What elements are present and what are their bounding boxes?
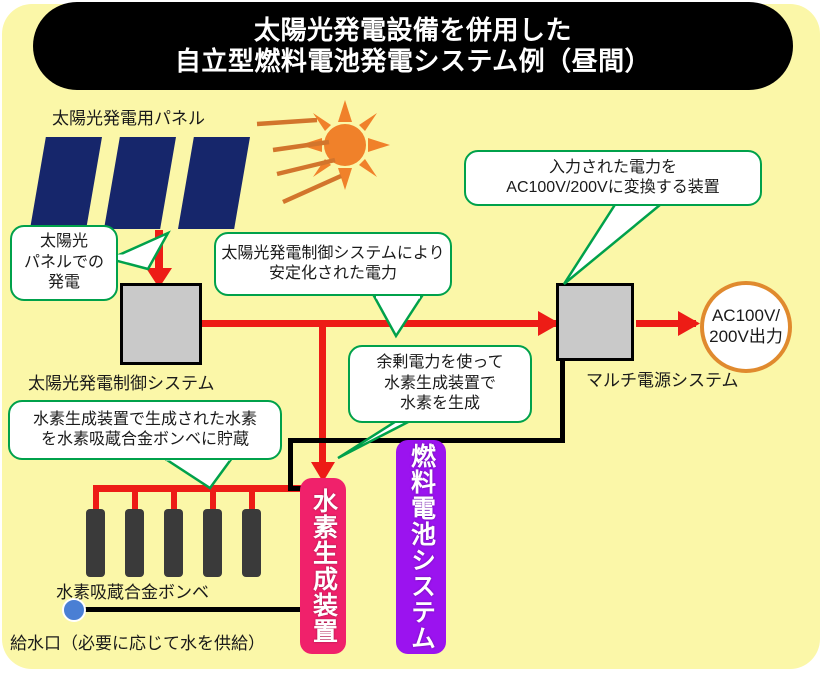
callout-tail-converter [560, 198, 670, 290]
callout-line: パネルでの [24, 253, 104, 273]
callout-tail-h2-storage [160, 456, 240, 494]
water-inlet-label: 給水口（必要に応じて水を供給） [10, 629, 265, 654]
callout-surplus-power: 余剰電力を使って 水素生成装置で 水素を生成 [348, 345, 532, 423]
gas-cylinder-icon [164, 509, 183, 577]
callout-tail-surplus-power [336, 418, 414, 464]
callout-h2-storage: 水素生成装置で生成された水素 を水素吸蔵合金ボンベに貯蔵 [8, 400, 282, 460]
fuel-cell-system-box[interactable]: 燃料電池システム [396, 440, 446, 654]
callout-tail-stabilized-power [370, 294, 430, 340]
title-line-1: 太陽光発電設備を併用した [254, 15, 572, 46]
callout-line: 安定化された電力 [269, 264, 397, 284]
sun-rays-icon [255, 118, 365, 218]
callout-line: 水素生成装置で生成された水素 [33, 410, 257, 430]
callout-line: 余剰電力を使って [376, 353, 503, 373]
wire-branch-to-h2gen [319, 320, 326, 468]
gas-cylinder-icon [125, 509, 144, 577]
diagram-title: 太陽光発電設備を併用した 自立型燃料電池発電システム例（昼間） [33, 2, 793, 90]
callout-line: 水素生成装置で [384, 374, 496, 394]
wire-water-inlet [84, 607, 302, 612]
gas-cylinder-icon [203, 509, 222, 577]
hydrogen-generator-box[interactable]: 水素生成装置 [300, 478, 346, 654]
callout-line: 太陽光発電制御システムにより [221, 244, 444, 264]
water-inlet-icon [62, 598, 86, 622]
wire-down-to-h2gen-side [288, 438, 293, 491]
ac-output-badge: AC100V/ 200V出力 [700, 281, 792, 373]
callout-line: 発電 [48, 273, 80, 293]
callout-tail-pv-generation [108, 231, 178, 271]
pv-control-system-box[interactable] [120, 283, 202, 365]
diagram-canvas: 太陽光発電設備を併用した 自立型燃料電池発電システム例（昼間） 太陽光発電用パネ… [0, 0, 826, 681]
multi-power-system-box[interactable] [556, 283, 634, 361]
gas-cylinder-icon [242, 509, 261, 577]
callout-converter: 入力された電力を AC100V/200Vに変換する装置 [464, 150, 762, 206]
callout-line: 太陽光 [40, 232, 88, 252]
fuel-cell-system-label: 燃料電池システム [408, 443, 435, 651]
callout-line: 入力された電力を [549, 158, 677, 178]
pv-panel-label: 太陽光発電用パネル [52, 104, 205, 129]
multi-power-system-label: マルチ電源システム [586, 366, 739, 391]
pv-control-system-label: 太陽光発電制御システム [28, 369, 215, 394]
ac-output-line-2: 200V出力 [709, 327, 783, 348]
hydrogen-generator-label: 水素生成装置 [310, 488, 337, 644]
callout-pv-generation: 太陽光 パネルでの 発電 [10, 225, 118, 301]
arrowhead-multi-to-output [678, 311, 700, 336]
callout-line: 水素を生成 [400, 394, 480, 414]
title-line-2: 自立型燃料電池発電システム例（昼間） [175, 46, 651, 77]
callout-stabilized-power: 太陽光発電制御システムにより 安定化された電力 [214, 232, 452, 296]
ac-output-line-1: AC100V/ [712, 306, 780, 327]
gas-cylinder-icon [86, 509, 105, 577]
callout-line: AC100V/200Vに変換する装置 [506, 178, 719, 198]
callout-line: を水素吸蔵合金ボンベに貯蔵 [41, 430, 249, 450]
wire-multi-down [560, 361, 565, 442]
